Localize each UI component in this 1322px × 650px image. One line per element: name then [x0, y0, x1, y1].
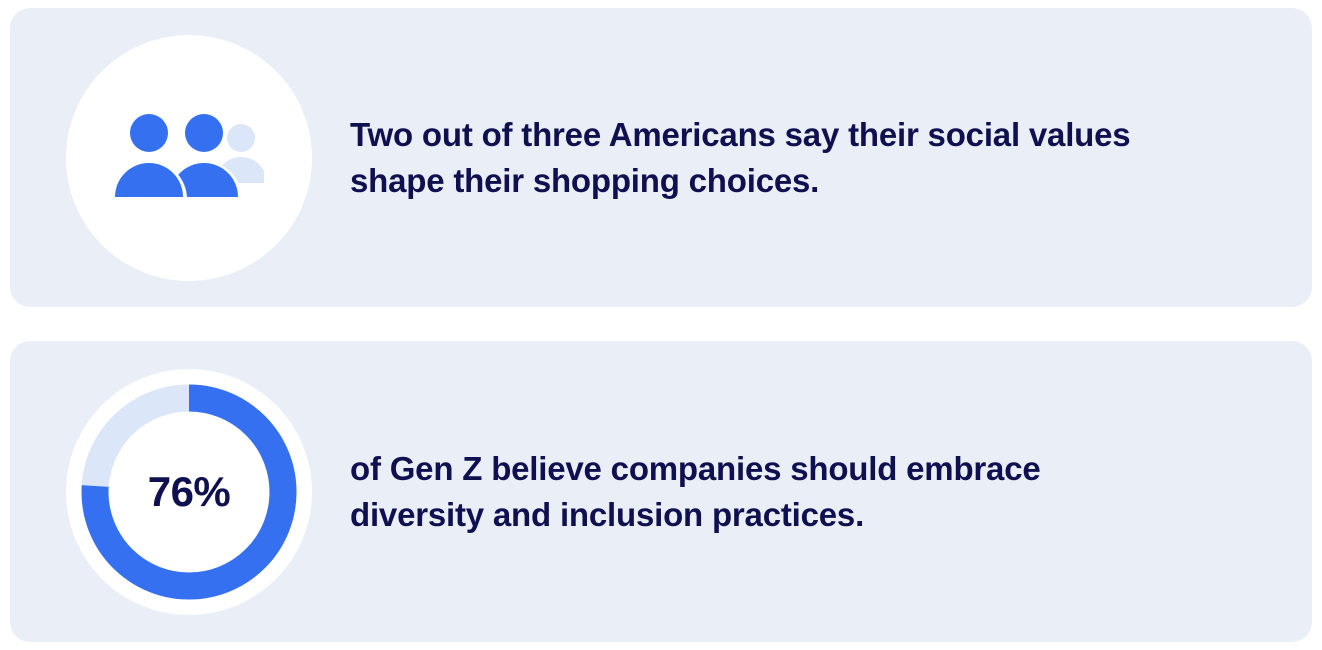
- three-people-icon: [114, 108, 264, 208]
- people-visual-inner: [66, 35, 312, 281]
- donut-visual-column: 76%: [10, 341, 350, 642]
- person-middle-head-icon: [185, 114, 223, 152]
- stat-card-donut: 76% of Gen Z believe companies should em…: [10, 341, 1312, 642]
- people-text-column: Two out of three Americans say their soc…: [350, 112, 1312, 204]
- stat-card-people: Two out of three Americans say their soc…: [10, 8, 1312, 307]
- person-back-head-icon: [227, 124, 255, 152]
- infographic-page: Two out of three Americans say their soc…: [0, 0, 1322, 650]
- icon-backdrop-circle: [66, 35, 312, 281]
- donut-backdrop-circle: 76%: [66, 369, 312, 615]
- person-left-body-icon: [115, 163, 183, 197]
- stat-statement-text: Two out of three Americans say their soc…: [350, 112, 1180, 204]
- donut-visual-inner: 76%: [66, 369, 312, 615]
- person-left-head-icon: [130, 114, 168, 152]
- stat-statement-text: of Gen Z believe companies should embrac…: [350, 446, 1180, 538]
- people-visual-column: [10, 8, 350, 307]
- donut-text-column: of Gen Z believe companies should embrac…: [350, 446, 1312, 538]
- donut-percentage-label: 76%: [66, 468, 312, 516]
